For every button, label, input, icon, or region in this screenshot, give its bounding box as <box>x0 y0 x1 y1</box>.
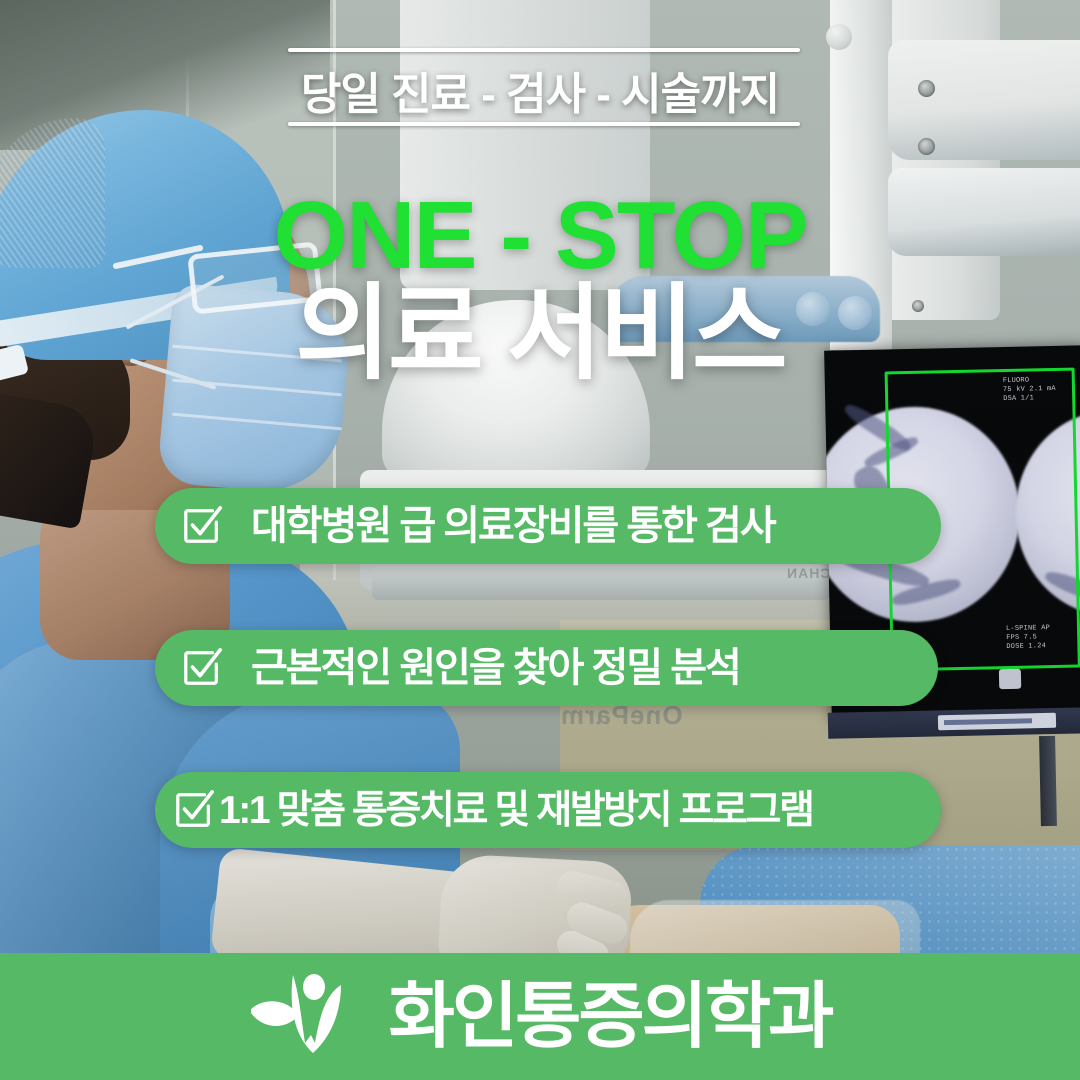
leaf-person-logo-icon <box>249 973 367 1061</box>
poster-root: Finest OneParm CHAN FLUORO75 kV 2.1 mADS… <box>0 0 1080 1080</box>
feature-pill-1-label: 대학병원 급 의료장비를 통한 검사 <box>251 506 775 546</box>
content-overlay: 당일 진료 - 검사 - 시술까지 ONE - STOP 의료 서비스 대학병원… <box>0 0 1080 1080</box>
headline-english: ONE - STOP <box>0 188 1080 284</box>
feature-pill-1[interactable]: 대학병원 급 의료장비를 통한 검사 <box>155 488 941 564</box>
kicker-rule-top <box>288 48 800 52</box>
footer-brand-band: 화인통증의학과 <box>0 953 1080 1080</box>
headline-korean: 의료 서비스 <box>0 282 1080 386</box>
checkbox-checked-icon <box>173 789 215 831</box>
checkbox-checked-icon <box>181 505 223 547</box>
feature-pill-3[interactable]: 1:1 맞춤 통증치료 및 재발방지 프로그램 <box>155 772 941 848</box>
kicker-text: 당일 진료 - 검사 - 시술까지 <box>0 58 1080 122</box>
feature-pill-2-label: 근본적인 원인을 찾아 정밀 분석 <box>251 648 740 688</box>
checkbox-checked-icon <box>181 647 223 689</box>
feature-pill-2[interactable]: 근본적인 원인을 찾아 정밀 분석 <box>155 630 938 706</box>
brand-name-text: 화인통증의학과 <box>389 981 832 1053</box>
feature-pill-3-label: 1:1 맞춤 통증치료 및 재발방지 프로그램 <box>219 791 813 830</box>
kicker-rule-bottom <box>288 122 800 126</box>
